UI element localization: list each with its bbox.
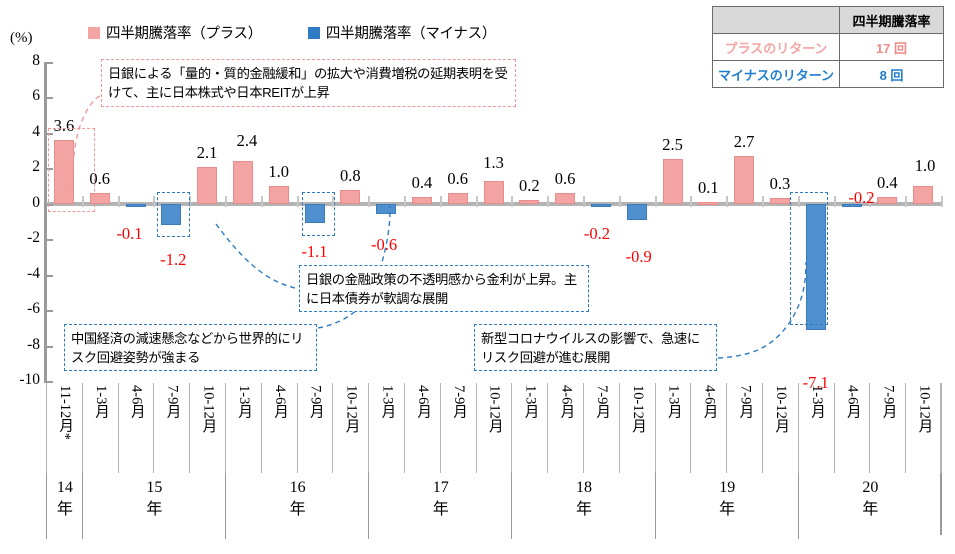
x-axis-tick: [440, 196, 442, 207]
chart-bar: [627, 204, 647, 220]
y-axis-tick: [44, 310, 53, 312]
x-axis-category-label: 1-3月: [380, 383, 395, 473]
x-axis-category-cell: 7-9月: [440, 383, 477, 473]
table-value-negative-return: 8 回: [840, 61, 944, 88]
chart-bar: [734, 156, 754, 204]
chart-bar: [412, 197, 432, 204]
x-axis-tick: [118, 196, 120, 207]
highlight-box-2015q3: [157, 192, 190, 237]
bar-value-label: 1.3: [468, 153, 520, 173]
y-axis-tick-label: 6: [4, 87, 40, 105]
table-row: マイナスのリターン 8 回: [713, 61, 944, 88]
callout-qqe: 日銀による「量的・質的金融緩和」の拡大や消費増税の延期表明を受けて、主に日本株式…: [101, 59, 516, 107]
table-row: プラスのリターン 17 回: [713, 34, 944, 61]
x-axis-category-label: 1-3月: [237, 383, 252, 473]
year-group-cell: 17年: [368, 473, 512, 539]
chart-bar: [555, 193, 575, 204]
x-axis-category-label: 1-3月: [666, 383, 681, 473]
x-axis-tick: [905, 196, 907, 207]
x-axis-category-label: 10-12月: [630, 383, 645, 473]
chart-bar: [448, 193, 468, 204]
summary-table: 四半期騰落率 プラスのリターン 17 回 マイナスのリターン 8 回: [712, 6, 944, 88]
legend-label-negative: 四半期騰落率（マイナス）: [326, 22, 496, 43]
x-axis-category-label: 1-3月: [523, 383, 538, 473]
x-axis-tick: [619, 196, 621, 207]
highlight-box-q1: [48, 128, 95, 212]
highlight-box-2016q3: [302, 192, 335, 236]
bar-value-label: 0.1: [682, 178, 734, 198]
legend-swatch-positive: [88, 27, 100, 39]
year-group-cell: 16年: [225, 473, 369, 539]
highlight-box-2020q1: [790, 192, 828, 325]
table-header-value: 四半期騰落率: [840, 7, 944, 34]
chart-bar: [913, 186, 933, 204]
y-axis-tick: [44, 275, 53, 277]
bar-value-label: 0.6: [539, 169, 591, 189]
chart-bar: [233, 161, 253, 204]
x-axis-tick: [404, 196, 406, 207]
x-axis-tick: [511, 196, 513, 207]
x-axis-category-label: 11-12月*: [58, 383, 73, 473]
y-axis-tick: [44, 346, 53, 348]
x-axis-category-label: 7-9月: [595, 383, 610, 473]
x-axis-category-label: 10-12月: [201, 383, 216, 473]
y-axis-tick-label: -4: [4, 265, 40, 283]
x-axis-label-band: 11-12月*1-3月4-6月7-9月10-12月1-3月4-6月7-9月10-…: [46, 383, 941, 473]
year-group-cell: 20年: [798, 473, 942, 539]
chart-legend: 四半期騰落率（プラス） 四半期騰落率（マイナス）: [88, 22, 496, 43]
y-axis-line: [44, 62, 47, 381]
x-axis-category-cell: 10-12月: [619, 383, 656, 473]
y-axis-tick-label: 8: [4, 52, 40, 70]
x-axis-tick: [261, 196, 263, 207]
year-number-label: 17: [433, 477, 449, 499]
table-label-negative-return: マイナスのリターン: [713, 61, 840, 88]
chart-bar: [770, 198, 790, 203]
x-axis-category-label: 7-9月: [881, 383, 896, 473]
y-axis-tick: [44, 239, 53, 241]
x-axis-category-cell: 7-9月: [726, 383, 763, 473]
legend-item-positive: 四半期騰落率（プラス）: [88, 22, 262, 43]
x-axis-band-right-edge: [940, 383, 942, 473]
y-axis-tick-label: -10: [4, 371, 40, 389]
table-row-header: 四半期騰落率: [713, 7, 944, 34]
year-number-label: 16: [290, 477, 306, 499]
chart-bar: [340, 190, 360, 204]
x-axis-tick: [655, 196, 657, 207]
year-number-label: 15: [146, 477, 162, 499]
x-axis-tick: [153, 196, 155, 207]
x-axis-tick: [476, 196, 478, 207]
bar-value-label: -1.2: [147, 250, 199, 270]
year-suffix-label: 年: [146, 499, 162, 521]
x-axis-category-cell: 7-9月: [583, 383, 620, 473]
x-axis-tick: [368, 196, 370, 207]
chart-bar: [591, 204, 611, 208]
x-axis-category-cell: 11-12月*: [46, 383, 83, 473]
x-axis-category-label: 4-6月: [129, 383, 144, 473]
x-axis-category-cell: 4-6月: [261, 383, 298, 473]
year-suffix-label: 年: [576, 499, 592, 521]
chart-bar: [197, 167, 217, 204]
year-suffix-label: 年: [433, 499, 449, 521]
x-axis-category-label: 10-12月: [487, 383, 502, 473]
x-axis-category-cell: 1-3月: [511, 383, 548, 473]
chart-bar: [126, 204, 146, 207]
callout-covid: 新型コロナウイルスの影響で、急速にリスク回避が進む展開: [474, 324, 717, 371]
x-axis-category-label: 1-3月: [809, 383, 824, 473]
legend-label-positive: 四半期騰落率（プラス）: [106, 22, 262, 43]
year-group-cell: 19年: [655, 473, 799, 539]
y-axis-tick-label: 0: [4, 194, 40, 212]
x-axis-category-cell: 1-3月: [225, 383, 262, 473]
y-axis-tick-label: -2: [4, 229, 40, 247]
callout-boj-policy: 日銀の金融政策の不透明感から金利が上昇。主に日本債券が軟調な展開: [299, 265, 589, 312]
x-axis-category-cell: 1-3月: [82, 383, 119, 473]
year-group-cell: 18年: [511, 473, 655, 539]
x-axis-category-cell: 4-6月: [690, 383, 727, 473]
y-axis-tick-label: -6: [4, 300, 40, 318]
year-suffix-label: 年: [719, 499, 735, 521]
x-axis-category-cell: 10-12月: [332, 383, 369, 473]
x-axis-tick: [297, 196, 299, 207]
bar-value-label: 0.8: [324, 166, 376, 186]
y-axis-tick-label: -8: [4, 336, 40, 354]
x-axis-category-cell: 7-9月: [153, 383, 190, 473]
x-axis-category-cell: 7-9月: [297, 383, 334, 473]
x-axis-category-cell: 7-9月: [869, 383, 906, 473]
x-axis-tick: [941, 196, 943, 207]
x-axis-tick: [225, 196, 227, 207]
x-axis-category-label: 4-6月: [416, 383, 431, 473]
year-number-label: 19: [719, 477, 735, 499]
x-axis-category-cell: 4-6月: [834, 383, 871, 473]
y-axis-tick: [44, 97, 53, 99]
bar-value-label: -1.1: [289, 242, 341, 262]
bar-value-label: -0.9: [613, 247, 665, 267]
year-band-right-edge: [940, 473, 942, 535]
x-axis-category-label: 7-9月: [738, 383, 753, 473]
chart-bar: [877, 197, 897, 204]
x-axis-category-label: 10-12月: [774, 383, 789, 473]
y-axis-tick: [44, 62, 53, 64]
y-axis-tick-label: 2: [4, 158, 40, 176]
year-group-cell: 15年: [82, 473, 226, 539]
table-header-blank: [713, 7, 840, 34]
x-axis-category-label: 4-6月: [559, 383, 574, 473]
year-number-label: 14: [57, 477, 73, 499]
chart-bar: [376, 204, 396, 215]
x-axis-category-cell: 10-12月: [476, 383, 513, 473]
y-axis-unit-label: (%): [10, 30, 33, 47]
chart-plot-area: (%) 四半期騰落率（プラス） 四半期騰落率（マイナス） 四半期騰落率 プラスの…: [0, 0, 955, 554]
x-axis-tick: [547, 196, 549, 207]
x-axis-category-label: 4-6月: [702, 383, 717, 473]
bar-value-label: -0.6: [358, 235, 410, 255]
x-axis-category-cell: 4-6月: [404, 383, 441, 473]
x-axis-category-label: 10-12月: [344, 383, 359, 473]
bar-value-label: -0.2: [571, 224, 623, 244]
x-axis-category-cell: 1-3月: [798, 383, 835, 473]
table-label-positive-return: プラスのリターン: [713, 34, 840, 61]
x-axis-category-cell: 1-3月: [368, 383, 405, 473]
x-axis-tick: [762, 196, 764, 207]
x-axis-category-cell: 10-12月: [189, 383, 226, 473]
bar-value-label: 1.0: [899, 156, 951, 176]
x-axis-category-cell: 4-6月: [118, 383, 155, 473]
x-axis-category-label: 10-12月: [917, 383, 932, 473]
chart-bar: [484, 181, 504, 204]
x-axis-category-cell: 1-3月: [655, 383, 692, 473]
x-axis-category-label: 7-9月: [451, 383, 466, 473]
legend-swatch-negative: [308, 27, 320, 39]
year-number-label: 20: [862, 477, 878, 499]
bar-value-label: 1.0: [253, 162, 305, 182]
bar-value-label: 2.7: [718, 132, 770, 152]
x-axis-category-label: 7-9月: [165, 383, 180, 473]
chart-bar: [269, 186, 289, 204]
year-label-band: 14年15年16年17年18年19年20年: [46, 473, 941, 535]
legend-item-negative: 四半期騰落率（マイナス）: [308, 22, 496, 43]
bar-value-label: 2.4: [221, 131, 273, 151]
callout-china: 中国経済の減速懸念などから世界的にリスク回避姿勢が強まる: [64, 324, 317, 371]
x-axis-category-cell: 4-6月: [547, 383, 584, 473]
x-axis-category-label: 1-3月: [93, 383, 108, 473]
chart-bar: [663, 159, 683, 203]
x-axis-category-cell: 10-12月: [905, 383, 942, 473]
x-axis-tick: [583, 196, 585, 207]
year-suffix-label: 年: [862, 499, 878, 521]
chart-bar: [519, 200, 539, 204]
year-group-cell: 14年: [46, 473, 83, 539]
y-axis-tick-label: 4: [4, 123, 40, 141]
year-suffix-label: 年: [290, 499, 306, 521]
year-number-label: 18: [576, 477, 592, 499]
bar-value-label: -0.1: [104, 224, 156, 244]
x-axis-category-label: 4-6月: [272, 383, 287, 473]
x-axis-category-cell: 10-12月: [762, 383, 799, 473]
chart-bar: [698, 202, 718, 205]
x-axis-category-label: 7-9月: [308, 383, 323, 473]
bar-value-label: 2.5: [647, 135, 699, 155]
year-suffix-label: 年: [57, 499, 73, 521]
table-value-positive-return: 17 回: [840, 34, 944, 61]
x-axis-category-label: 4-6月: [845, 383, 860, 473]
